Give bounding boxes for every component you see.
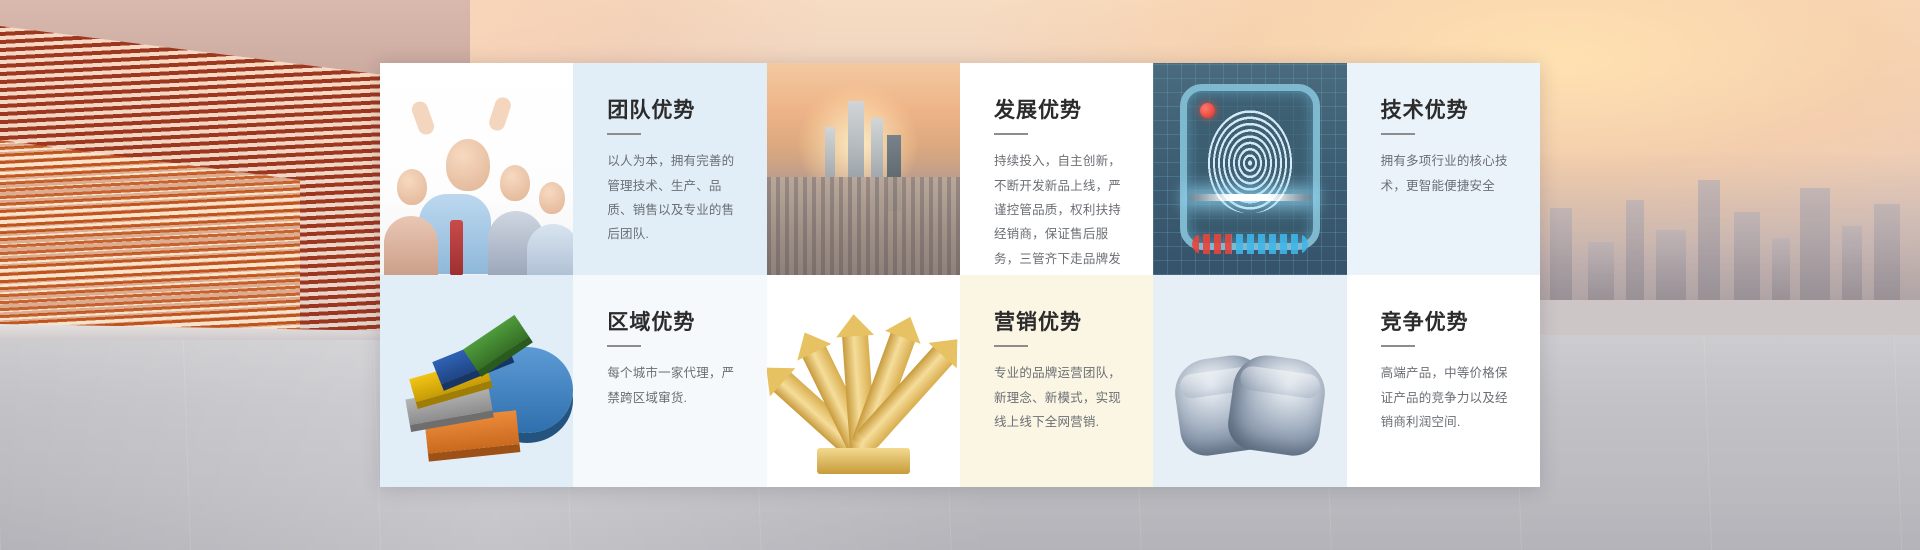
card-title-development: 发展优势 (994, 97, 1127, 122)
card-title-marketing: 营销优势 (994, 309, 1127, 334)
card-image-team (380, 63, 573, 275)
card-title-team: 团队优势 (607, 97, 740, 122)
card-desc-development: 持续投入，自主创新，不断开发新品上线，严谨控管品质，权利扶持经销商，保证售后服务… (994, 149, 1127, 275)
card-image-development (767, 63, 960, 275)
card-desc-marketing: 专业的品牌运营团队，新理念、新模式，实现线上线下全网营销. (994, 361, 1127, 434)
card-desc-team: 以人为本，拥有完善的管理技术、生产、品质、销售以及专业的售后团队. (607, 149, 740, 247)
scan-beam (1188, 194, 1312, 201)
title-rule (1381, 345, 1415, 347)
card-image-region (380, 275, 573, 487)
banner-scene: 团队优势 以人为本，拥有完善的管理技术、生产、品质、销售以及专业的售后团队. 发… (0, 0, 1920, 550)
card-text-technology: 技术优势 拥有多项行业的核心技术，更智能便捷安全 (1347, 63, 1540, 275)
card-image-technology (1153, 63, 1346, 275)
card-image-marketing (767, 275, 960, 487)
card-image-competition (1153, 275, 1346, 487)
chevron-progress-icon (1192, 234, 1308, 254)
title-rule (1381, 133, 1415, 135)
status-led-icon (1200, 103, 1215, 118)
card-desc-competition: 高端产品，中等价格保证产品的竞争力以及经销商利润空间. (1381, 361, 1514, 434)
card-text-team: 团队优势 以人为本，拥有完善的管理技术、生产、品质、销售以及专业的售后团队. (573, 63, 766, 275)
card-desc-technology: 拥有多项行业的核心技术，更智能便捷安全 (1381, 149, 1514, 198)
advantage-card-grid: 团队优势 以人为本，拥有完善的管理技术、生产、品质、销售以及专业的售后团队. 发… (380, 63, 1540, 487)
title-rule (607, 345, 641, 347)
card-title-region: 区域优势 (607, 309, 740, 334)
card-desc-region: 每个城市一家代理，严禁跨区域窜货. (607, 361, 740, 410)
card-text-development: 发展优势 持续投入，自主创新，不断开发新品上线，严谨控管品质，权利扶持经销商，保… (960, 63, 1153, 275)
card-text-region: 区域优势 每个城市一家代理，严禁跨区域窜货. (573, 275, 766, 487)
arrow-pedestal (817, 448, 910, 474)
card-text-marketing: 营销优势 专业的品牌运营团队，新理念、新模式，实现线上线下全网营销. (960, 275, 1153, 487)
title-rule (994, 133, 1028, 135)
fist-right-icon (1225, 351, 1329, 459)
title-rule (994, 345, 1028, 347)
card-title-technology: 技术优势 (1381, 97, 1514, 122)
skyline-silhouette (767, 177, 960, 275)
title-rule (607, 133, 641, 135)
card-text-competition: 竞争优势 高端产品，中等价格保证产品的竞争力以及经销商利润空间. (1347, 275, 1540, 487)
card-title-competition: 竞争优势 (1381, 309, 1514, 334)
